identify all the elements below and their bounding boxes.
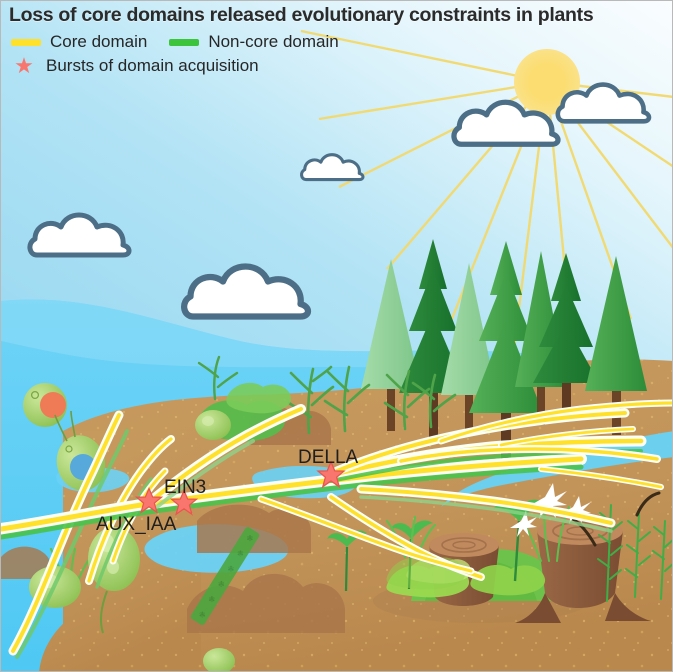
legend-core-domain: Core domain [11, 32, 147, 52]
label-aux-iaa: AUX_IAA [96, 514, 177, 535]
label-ein3: EIN3 [164, 477, 206, 498]
legend-label-core: Core domain [50, 32, 147, 52]
legend-row-primary: Core domain Non-core domain [11, 32, 361, 52]
legend-bursts: ★ Bursts of domain acquisition [11, 56, 259, 76]
star-icon: ★ [14, 57, 34, 75]
legend-swatch-star: ★ [11, 57, 37, 75]
legend-swatch-core [11, 39, 41, 46]
figure-title: Loss of core domains released evolutiona… [9, 4, 593, 27]
algae-cell-mid [195, 410, 231, 440]
legend-swatch-non-core [169, 39, 199, 46]
legend-row-bursts: ★ Bursts of domain acquisition [11, 56, 281, 76]
figure-canvas: ✾✾✾ ✾✾✾ AUX_IAA EIN3 [0, 0, 673, 672]
scene-illustration: ✾✾✾ ✾✾✾ AUX_IAA EIN3 [1, 1, 673, 672]
legend-label-bursts: Bursts of domain acquisition [46, 56, 259, 76]
legend-non-core-domain: Non-core domain [169, 32, 338, 52]
algae-cell-red [23, 383, 67, 427]
label-della: DELLA [298, 447, 359, 468]
legend-label-non-core: Non-core domain [208, 32, 338, 52]
